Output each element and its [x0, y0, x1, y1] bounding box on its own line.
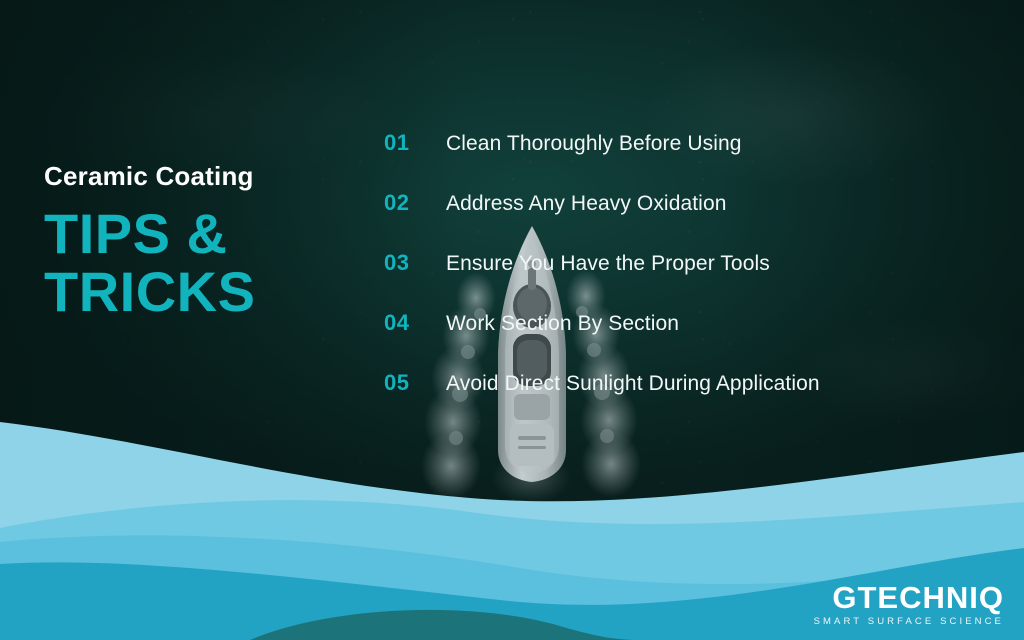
tip-number: 01	[384, 130, 446, 156]
tips-list: 01 Clean Thoroughly Before Using 02 Addr…	[384, 130, 944, 430]
list-item: 02 Address Any Heavy Oxidation	[384, 190, 944, 250]
logo-wordmark: GTECHNIQ	[814, 582, 1004, 613]
list-item: 03 Ensure You Have the Proper Tools	[384, 250, 944, 310]
title-line-2: TRICKS	[44, 263, 374, 322]
brand-logo: GTECHNIQ SMART SURFACE SCIENCE	[814, 582, 1004, 627]
list-item: 04 Work Section By Section	[384, 310, 944, 370]
title-line-1: TIPS &	[44, 205, 374, 264]
tip-number: 04	[384, 310, 446, 336]
tip-label: Clean Thoroughly Before Using	[446, 132, 742, 156]
tip-number: 03	[384, 250, 446, 276]
list-item: 01 Clean Thoroughly Before Using	[384, 130, 944, 190]
tip-label: Address Any Heavy Oxidation	[446, 192, 727, 216]
tip-label: Work Section By Section	[446, 312, 679, 336]
page-title: TIPS & TRICKS	[44, 205, 374, 323]
tip-label: Avoid Direct Sunlight During Application	[446, 372, 820, 396]
logo-tagline: SMART SURFACE SCIENCE	[814, 617, 1004, 627]
slide-canvas: Ceramic Coating TIPS & TRICKS 01 Clean T…	[0, 0, 1024, 640]
tip-number: 05	[384, 370, 446, 396]
tip-number: 02	[384, 190, 446, 216]
tip-label: Ensure You Have the Proper Tools	[446, 252, 770, 276]
headline-block: Ceramic Coating TIPS & TRICKS	[44, 162, 374, 322]
eyebrow-text: Ceramic Coating	[44, 162, 374, 191]
